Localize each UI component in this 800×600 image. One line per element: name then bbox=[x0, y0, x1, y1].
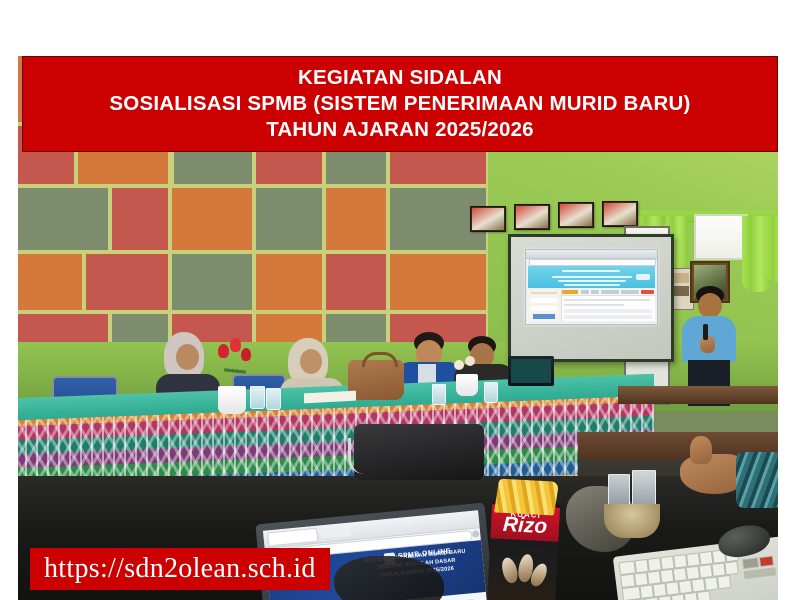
person-woman-hijab-left bbox=[154, 332, 228, 396]
site-sidebar bbox=[528, 289, 562, 321]
poster-canvas: SPMB ONLINE SISTEM PENERIMAAN MURID BARU… bbox=[0, 0, 800, 600]
flower-pot-roses bbox=[456, 374, 478, 396]
browser-tab[interactable] bbox=[267, 528, 318, 547]
website-url[interactable]: https://sdn2olean.sch.id bbox=[44, 553, 316, 585]
wall-frame-4 bbox=[602, 201, 638, 227]
banner-line-1: KEGIATAN SIDALAN bbox=[298, 65, 502, 91]
face bbox=[300, 349, 322, 374]
thumb-up-icon bbox=[690, 436, 712, 464]
bag-cable bbox=[348, 438, 381, 474]
face bbox=[698, 293, 722, 318]
tulip-flower-3 bbox=[241, 348, 251, 361]
wall-frame-2 bbox=[514, 204, 550, 230]
browser-menu-dots[interactable] bbox=[472, 530, 480, 538]
face bbox=[176, 344, 199, 370]
banner-line-3: TAHUN AJARAN 2025/2026 bbox=[266, 117, 534, 143]
drinking-glass-3 bbox=[432, 384, 446, 405]
projected-browser-window bbox=[525, 249, 658, 325]
website-url-band: https://sdn2olean.sch.id bbox=[30, 548, 330, 590]
browser-address-bar bbox=[529, 259, 656, 266]
rose-flower-1 bbox=[454, 360, 464, 370]
wall-frame-1 bbox=[470, 206, 506, 232]
snack-chips bbox=[494, 479, 559, 516]
site-header-banner bbox=[528, 266, 655, 288]
snack-brand: Rizo bbox=[491, 514, 560, 538]
handbag-handle bbox=[362, 352, 398, 367]
drinking-glass-2 bbox=[266, 388, 281, 410]
curtain-far-right bbox=[766, 216, 778, 282]
snack-package: KUACI Rizo bbox=[487, 478, 562, 600]
browser-titlebar bbox=[526, 250, 657, 259]
side-table-back bbox=[618, 386, 778, 404]
sleeve-striped bbox=[736, 452, 778, 508]
drinking-glass-4 bbox=[484, 382, 498, 403]
tulip-flower-1 bbox=[218, 344, 229, 358]
rose-flower-2 bbox=[465, 356, 475, 366]
flower-pot-tulips bbox=[218, 386, 246, 414]
microphone-icon bbox=[703, 324, 708, 340]
tulip-flower-2 bbox=[230, 338, 241, 352]
drinking-glass-1 bbox=[250, 386, 265, 409]
laptop-on-table-screen bbox=[511, 359, 551, 383]
title-banner: KEGIATAN SIDALAN SOSIALISASI SPMB (SISTE… bbox=[22, 56, 778, 152]
snack-bowl bbox=[604, 504, 660, 538]
wall-frame-3 bbox=[558, 202, 594, 228]
banner-line-2: SOSIALISASI SPMB (SISTEM PENERIMAAN MURI… bbox=[109, 91, 690, 117]
window-pane bbox=[694, 214, 748, 260]
